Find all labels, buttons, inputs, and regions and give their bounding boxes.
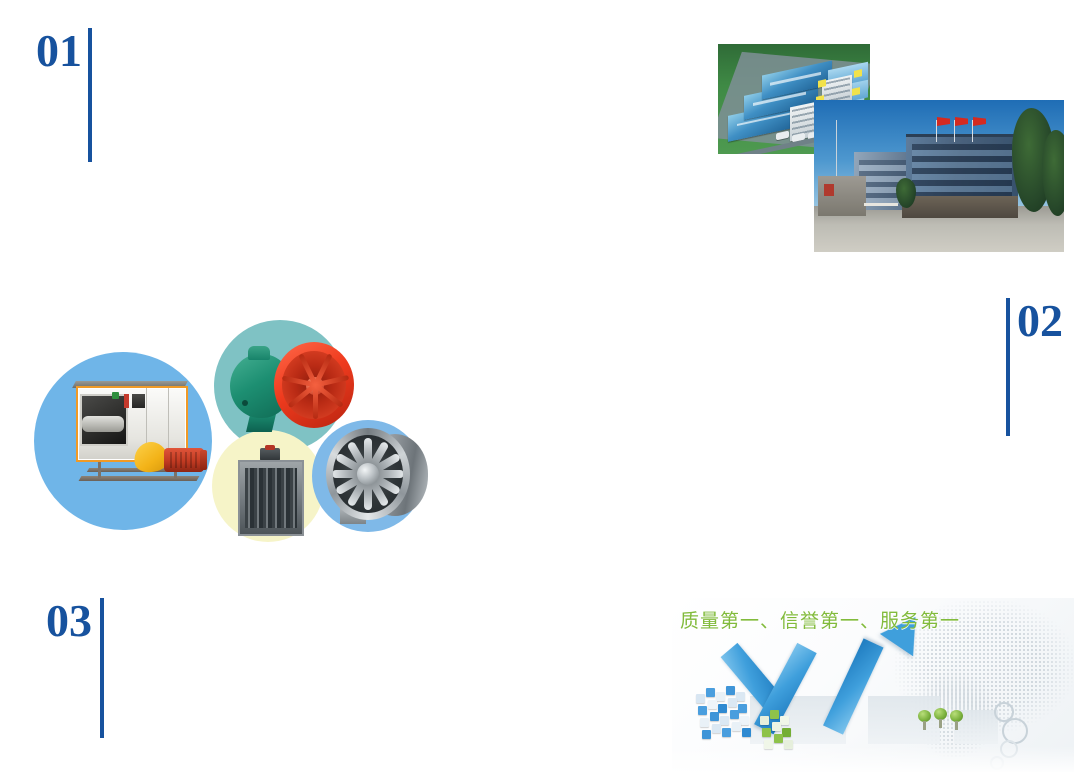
section-marker-01: 01 xyxy=(36,28,92,162)
cube xyxy=(774,734,783,743)
cube xyxy=(740,716,749,725)
cube xyxy=(738,704,747,713)
fan-control-box xyxy=(132,394,145,408)
axial-fan-blade xyxy=(314,383,344,408)
section-number-02: 02 xyxy=(1017,298,1063,344)
light-pole xyxy=(836,120,837,176)
flag-pole-2 xyxy=(954,120,955,142)
section-rule-01 xyxy=(88,28,92,162)
gate-barrier-arm xyxy=(864,203,898,206)
cube xyxy=(720,716,729,725)
company-slogan: 质量第一、信誉第一、服务第一 xyxy=(680,606,960,633)
cube xyxy=(762,728,771,737)
cube xyxy=(700,718,709,727)
office-building-photo xyxy=(814,100,1064,252)
fan-switch-red xyxy=(124,394,129,408)
electric-motor-red xyxy=(164,448,204,472)
tree-trunk xyxy=(923,721,926,730)
cube xyxy=(730,710,739,719)
damper-frame xyxy=(238,460,304,536)
cube xyxy=(708,700,717,709)
cube xyxy=(698,706,707,715)
cube-cluster-blue xyxy=(696,686,758,744)
section-rule-02 xyxy=(1006,298,1010,436)
section-number-03: 03 xyxy=(46,598,92,644)
metal-axial-fan xyxy=(322,426,432,530)
section-number-01: 01 xyxy=(36,28,82,74)
cube xyxy=(742,728,751,737)
cube xyxy=(770,710,779,719)
cube xyxy=(780,716,789,725)
growth-arrow-banner: 质量第一、信誉第一、服务第一 xyxy=(672,598,1074,772)
fan-impeller-wheel xyxy=(82,416,124,432)
cube xyxy=(716,692,725,701)
section-marker-02: 02 xyxy=(1006,298,1063,436)
cube xyxy=(722,728,731,737)
damper-blades xyxy=(245,468,297,528)
tree-trunk xyxy=(939,719,942,728)
cube xyxy=(710,712,719,721)
cube xyxy=(706,688,715,697)
section-marker-03: 03 xyxy=(46,598,104,738)
guard-house xyxy=(818,176,866,216)
axial-fan-casing-red xyxy=(274,342,354,428)
flag-pole-3 xyxy=(972,120,973,142)
cube xyxy=(696,694,705,703)
axial-fan-bore xyxy=(282,351,346,419)
tree-icon-3 xyxy=(950,710,964,732)
banner-reflection-fade xyxy=(672,746,1074,772)
axial-fan-terminal-box xyxy=(248,346,270,360)
fan-nameplate-badge xyxy=(112,392,119,399)
tree-icon-2 xyxy=(934,708,948,730)
cube xyxy=(718,704,727,713)
cube xyxy=(702,730,711,739)
cube xyxy=(712,724,721,733)
metal-fan-inlet xyxy=(333,435,403,513)
fan-base-rail-1 xyxy=(79,476,200,481)
tree-icon-1 xyxy=(918,710,932,732)
cabinet-panel-seam-2 xyxy=(168,388,169,456)
cube xyxy=(782,728,791,737)
cube xyxy=(772,722,781,731)
cube xyxy=(726,686,735,695)
cube xyxy=(728,698,737,707)
motor-end-cap xyxy=(200,450,207,470)
metal-fan-flange-rim xyxy=(326,428,410,520)
perimeter-wall xyxy=(902,196,1018,218)
tree-trunk xyxy=(955,721,958,730)
page-root: 01 02 03 xyxy=(0,0,1074,772)
cabinet-centrifugal-fan xyxy=(54,372,209,492)
cube xyxy=(736,692,745,701)
metal-fan-hub xyxy=(357,463,379,485)
cube xyxy=(732,722,741,731)
flag-pole-1 xyxy=(936,120,937,142)
cube-cluster-green xyxy=(760,710,796,744)
fire-damper xyxy=(230,446,314,538)
section-rule-03 xyxy=(100,598,104,738)
cube xyxy=(760,716,769,725)
product-showcase-cluster xyxy=(34,320,424,550)
